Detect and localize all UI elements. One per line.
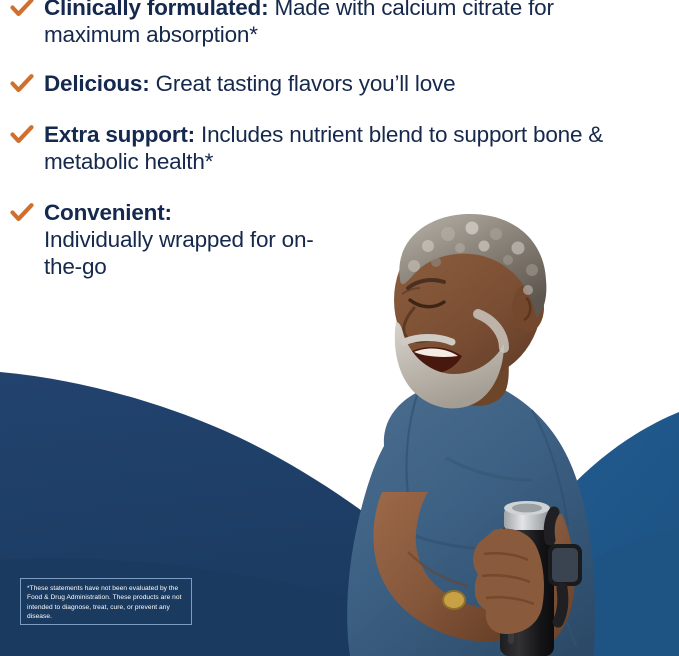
check-icon (0, 121, 44, 145)
benefit-text: Delicious: Great tasting flavors you’ll … (44, 70, 660, 97)
benefit-text: Extra support: Includes nutrient blend t… (44, 121, 660, 175)
disclaimer-box: *These statements have not been evaluate… (20, 578, 192, 625)
benefit-lead: Convenient: (44, 200, 172, 225)
benefit-item-convenient: Convenient: Individually wrapped for on-… (0, 199, 660, 280)
benefit-body: Great tasting flavors you’ll love (156, 71, 456, 96)
benefit-text: Clinically formulated: Made with calcium… (44, 0, 660, 48)
check-icon (0, 199, 44, 223)
benefit-text: Convenient: Individually wrapped for on-… (44, 199, 344, 280)
benefit-item-delicious: Delicious: Great tasting flavors you’ll … (0, 70, 660, 97)
benefit-lead: Clinically formulated: (44, 0, 268, 20)
benefit-item-extra-support: Extra support: Includes nutrient blend t… (0, 121, 660, 175)
check-icon (0, 70, 44, 94)
benefit-item-clinically-formulated: Clinically formulated: Made with calcium… (0, 0, 660, 48)
check-icon (0, 0, 44, 18)
disclaimer-text: *These statements have not been evaluate… (27, 585, 181, 620)
benefit-lead: Delicious: (44, 71, 150, 96)
benefit-body: Individually wrapped for on-the-go (44, 227, 314, 279)
benefit-lead: Extra support: (44, 122, 195, 147)
benefits-list: Clinically formulated: Made with calcium… (0, 0, 660, 302)
